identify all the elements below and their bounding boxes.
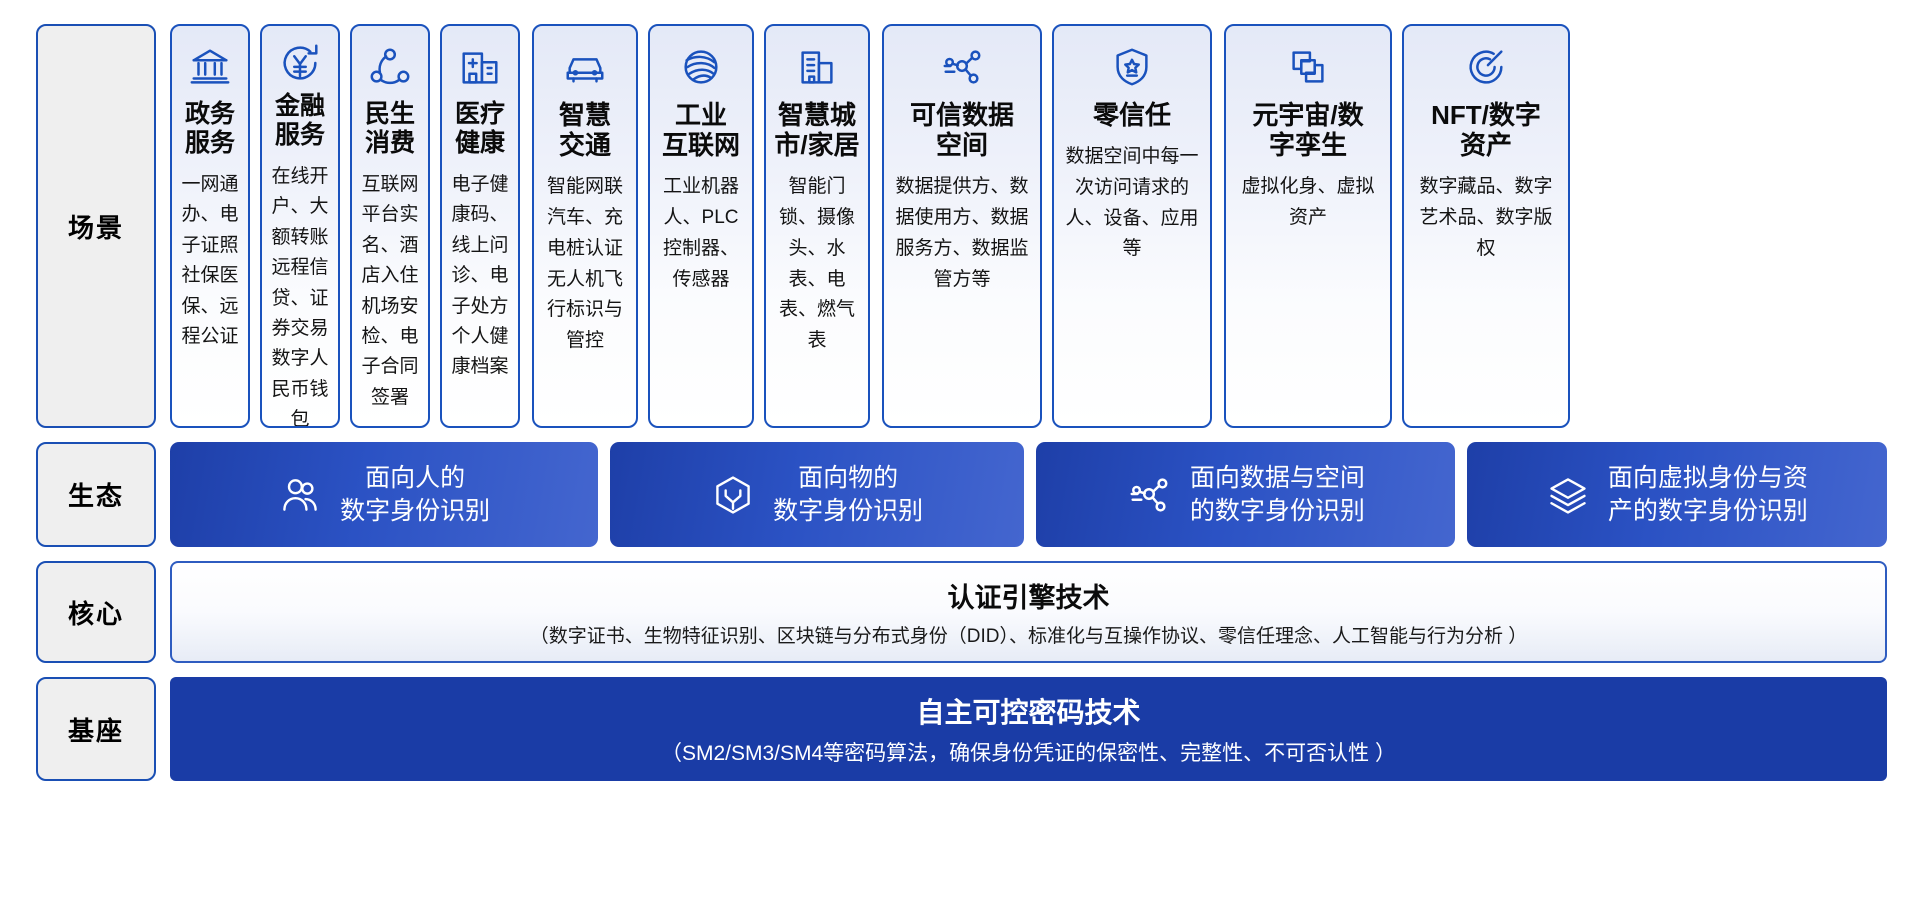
scene-card-desc: 电子健康码、线上问诊、电子处方个人健康档案 xyxy=(448,170,512,383)
people-icon xyxy=(278,473,322,517)
core-card-container: 认证引擎技术 （数字证书、生物特征识别、区块链与分布式身份（DID）、标准化与互… xyxy=(170,561,1887,663)
scene-card-title: 智慧城 市/家居 xyxy=(774,100,859,160)
scene-card-desc: 工业机器人、PLC控制器、传感器 xyxy=(656,172,746,295)
signal-globe-icon xyxy=(674,40,728,94)
scene-card-1[interactable]: 政务 服务一网通办、电子证照社保医保、远程公证 xyxy=(170,24,250,428)
scene-card-desc: 数据空间中每一次访问请求的人、设备、应用等 xyxy=(1060,142,1204,265)
scene-card-desc: 虚拟化身、虚拟资产 xyxy=(1232,172,1384,234)
ecosystem-card-3[interactable]: 面向数据与空间 的数字身份识别 xyxy=(1036,442,1455,547)
diagram-canvas: 场景 政务 服务一网通办、电子证照社保医保、远程公证金融 服务在线开户、大额转账… xyxy=(0,0,1915,915)
scene-card-title: 智慧 交通 xyxy=(559,100,611,160)
row-label-core: 核心 xyxy=(36,561,156,663)
scene-card-7[interactable]: 智慧城 市/家居智能门锁、摄像头、水表、电表、燃气表 xyxy=(764,24,870,428)
scene-group-1: 政务 服务一网通办、电子证照社保医保、远程公证金融 服务在线开户、大额转账远程信… xyxy=(170,24,520,428)
shield-star-icon xyxy=(1105,40,1159,94)
data-node-icon xyxy=(1126,472,1172,518)
scene-card-title: 零信任 xyxy=(1093,100,1171,130)
yuan-refresh-icon xyxy=(273,40,327,86)
scene-card-2[interactable]: 金融 服务在线开户、大额转账远程信贷、证券交易数字人民币钱包 xyxy=(260,24,340,428)
ecosystem-card-1[interactable]: 面向人的 数字身份识别 xyxy=(170,442,598,547)
scene-card-desc: 数据提供方、数据使用方、数据服务方、数据监管方等 xyxy=(890,172,1034,295)
scene-group-3: 可信数据 空间数据提供方、数据使用方、数据服务方、数据监管方等零信任数据空间中每… xyxy=(882,24,1212,428)
scene-card-desc: 智能门锁、摄像头、水表、电表、燃气表 xyxy=(772,172,862,357)
data-node-icon xyxy=(935,40,989,94)
ecosystem-card-text: 面向数据与空间 的数字身份识别 xyxy=(1190,462,1365,527)
layers-icon xyxy=(1546,473,1590,517)
scene-card-11[interactable]: NFT/数字 资产数字藏品、数字艺术品、数字版权 xyxy=(1402,24,1570,428)
scene-card-title: 医疗 健康 xyxy=(455,100,505,158)
scene-card-4[interactable]: 医疗 健康电子健康码、线上问诊、电子处方个人健康档案 xyxy=(440,24,520,428)
twin-frames-icon xyxy=(1281,40,1335,94)
row-base: 基座 自主可控密码技术 （SM2/SM3/SM4等密码算法，确保身份凭证的保密性… xyxy=(36,677,1887,781)
cube-icon xyxy=(711,473,755,517)
scene-card-desc: 互联网平台实名、酒店入住机场安检、电子合同签署 xyxy=(358,170,422,413)
scene-card-desc: 在线开户、大额转账远程信贷、证券交易数字人民币钱包 xyxy=(268,162,332,428)
ecosystem-card-text: 面向人的 数字身份识别 xyxy=(340,462,490,527)
scene-card-6[interactable]: 工业 互联网工业机器人、PLC控制器、传感器 xyxy=(648,24,754,428)
scene-card-desc: 一网通办、电子证照社保医保、远程公证 xyxy=(178,170,242,352)
scene-card-title: NFT/数字 资产 xyxy=(1431,100,1541,160)
target-ring-icon xyxy=(1459,40,1513,94)
scene-card-10[interactable]: 元宇宙/数 字孪生虚拟化身、虚拟资产 xyxy=(1224,24,1392,428)
hospital-icon xyxy=(453,40,507,94)
share-nodes-icon xyxy=(363,40,417,94)
row-scene: 场景 政务 服务一网通办、电子证照社保医保、远程公证金融 服务在线开户、大额转账… xyxy=(36,24,1887,428)
ecosystem-card-4[interactable]: 面向虚拟身份与资 产的数字身份识别 xyxy=(1467,442,1887,547)
ecosystem-card-text: 面向虚拟身份与资 产的数字身份识别 xyxy=(1608,462,1808,527)
scene-card-title: 政务 服务 xyxy=(185,100,235,158)
base-title: 自主可控密码技术 xyxy=(916,691,1140,731)
core-card[interactable]: 认证引擎技术 （数字证书、生物特征识别、区块链与分布式身份（DID）、标准化与互… xyxy=(170,561,1887,663)
core-subtitle: （数字证书、生物特征识别、区块链与分布式身份（DID）、标准化与互操作协议、零信… xyxy=(530,621,1528,648)
row-label-scene: 场景 xyxy=(36,24,156,428)
scene-card-title: 元宇宙/数 字孪生 xyxy=(1252,100,1363,160)
scene-card-desc: 智能网联汽车、充电桩认证无人机飞行标识与管控 xyxy=(540,172,630,357)
scene-card-title: 民生 消费 xyxy=(365,100,415,158)
ecosystem-card-text: 面向物的 数字身份识别 xyxy=(773,462,923,527)
bank-icon xyxy=(183,40,237,94)
scene-card-title: 可信数据 空间 xyxy=(910,100,1014,160)
scene-card-5[interactable]: 智慧 交通智能网联汽车、充电桩认证无人机飞行标识与管控 xyxy=(532,24,638,428)
scene-card-title: 金融 服务 xyxy=(275,92,325,150)
row-core: 核心 认证引擎技术 （数字证书、生物特征识别、区块链与分布式身份（DID）、标准… xyxy=(36,561,1887,663)
scene-card-3[interactable]: 民生 消费互联网平台实名、酒店入住机场安检、电子合同签署 xyxy=(350,24,430,428)
base-subtitle: （SM2/SM3/SM4等密码算法，确保身份凭证的保密性、完整性、不可否认性 ） xyxy=(661,737,1396,767)
ecosystem-card-2[interactable]: 面向物的 数字身份识别 xyxy=(610,442,1024,547)
base-card-container: 自主可控密码技术 （SM2/SM3/SM4等密码算法，确保身份凭证的保密性、完整… xyxy=(170,677,1887,781)
ecosystem-cards-container: 面向人的 数字身份识别面向物的 数字身份识别面向数据与空间 的数字身份识别面向虚… xyxy=(170,442,1887,547)
row-ecosystem: 生态 面向人的 数字身份识别面向物的 数字身份识别面向数据与空间 的数字身份识别… xyxy=(36,442,1887,547)
core-title: 认证引擎技术 xyxy=(948,576,1110,615)
scene-card-9[interactable]: 零信任数据空间中每一次访问请求的人、设备、应用等 xyxy=(1052,24,1212,428)
scene-card-8[interactable]: 可信数据 空间数据提供方、数据使用方、数据服务方、数据监管方等 xyxy=(882,24,1042,428)
car-icon xyxy=(558,40,612,94)
scene-group-2: 智慧 交通智能网联汽车、充电桩认证无人机飞行标识与管控工业 互联网工业机器人、P… xyxy=(532,24,870,428)
city-building-icon xyxy=(790,40,844,94)
scene-card-title: 工业 互联网 xyxy=(662,100,740,160)
scene-cards-container: 政务 服务一网通办、电子证照社保医保、远程公证金融 服务在线开户、大额转账远程信… xyxy=(170,24,1887,428)
scene-card-desc: 数字藏品、数字艺术品、数字版权 xyxy=(1410,172,1562,264)
row-label-ecosystem: 生态 xyxy=(36,442,156,547)
row-label-base: 基座 xyxy=(36,677,156,781)
base-card[interactable]: 自主可控密码技术 （SM2/SM3/SM4等密码算法，确保身份凭证的保密性、完整… xyxy=(170,677,1887,781)
scene-group-4: 元宇宙/数 字孪生虚拟化身、虚拟资产NFT/数字 资产数字藏品、数字艺术品、数字… xyxy=(1224,24,1570,428)
